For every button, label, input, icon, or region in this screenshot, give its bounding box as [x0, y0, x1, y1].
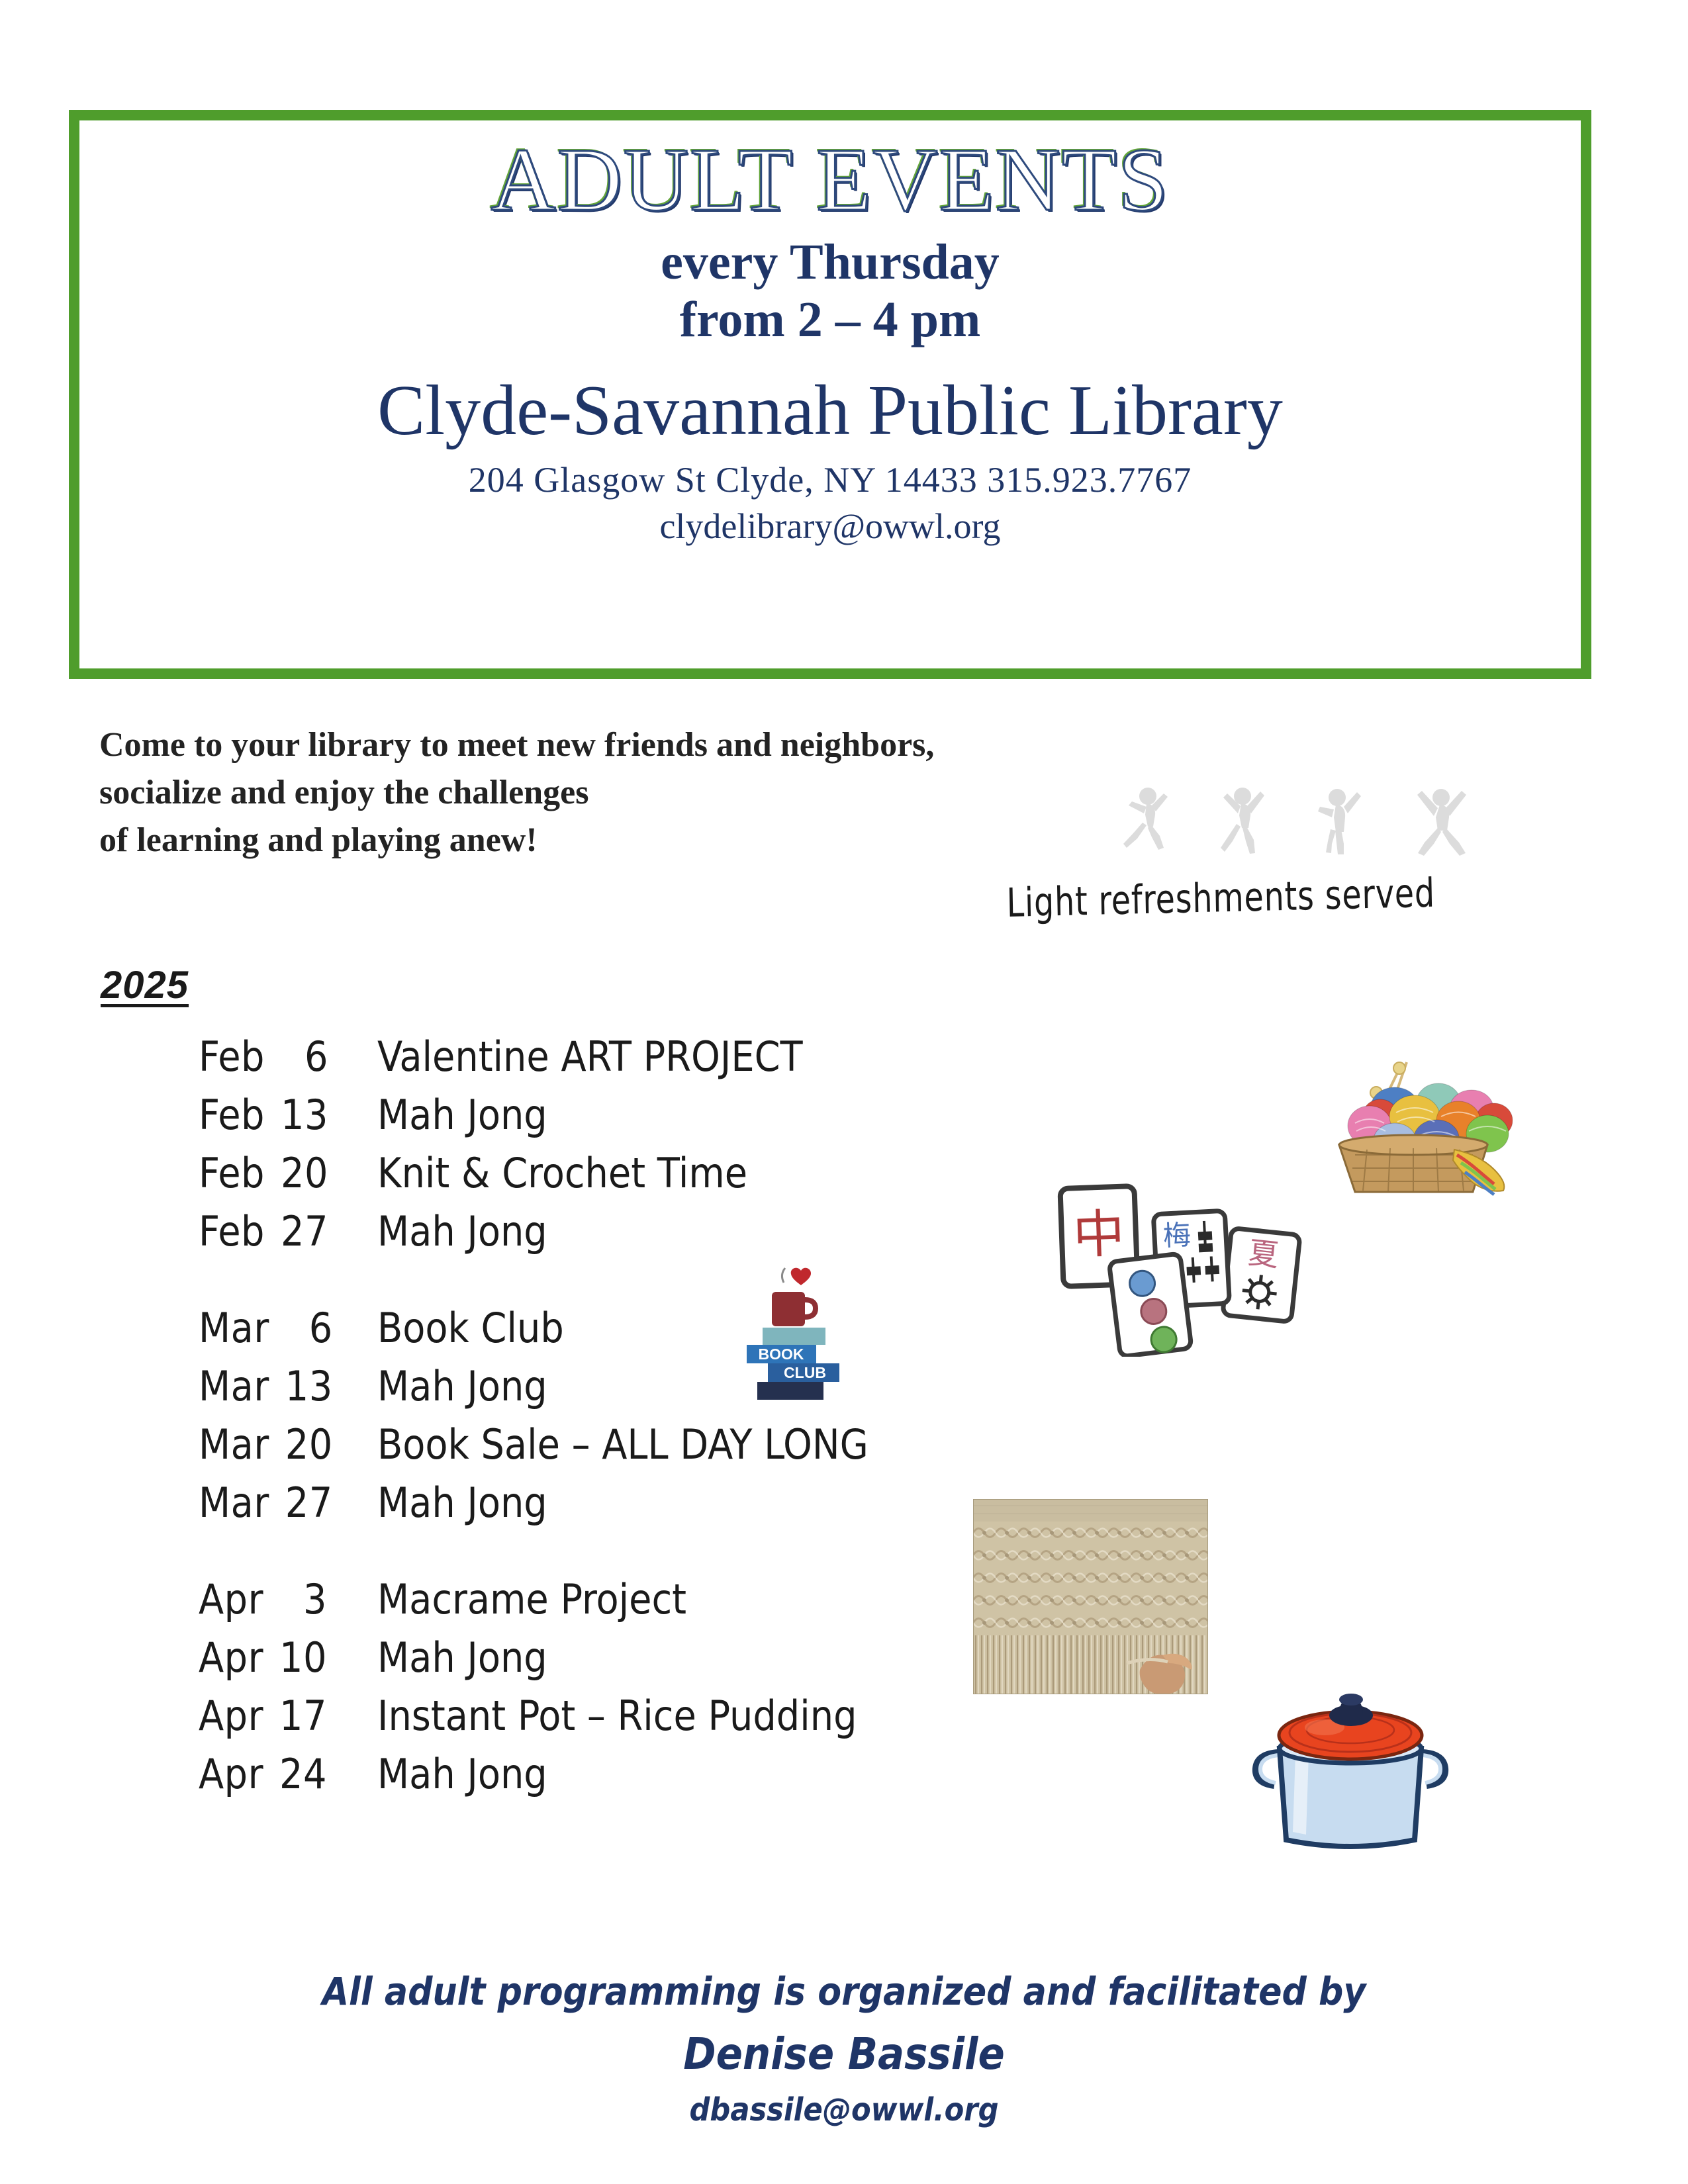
schedule-row: Apr10 Mah Jong [199, 1633, 1059, 1692]
schedule-date: Apr17 [199, 1692, 377, 1740]
book-club-logo: BOOK CLUB [723, 1259, 849, 1401]
events-schedule: Feb6 Valentine ART PROJECT Feb13 Mah Jon… [199, 1032, 1059, 1808]
schedule-event-title: Valentine ART PROJECT [377, 1032, 1059, 1081]
schedule-row: Feb13 Mah Jong [199, 1091, 1059, 1149]
schedule-date: Mar6 [199, 1304, 377, 1352]
schedule-row: Feb6 Valentine ART PROJECT [199, 1032, 1059, 1091]
schedule-date: Feb13 [199, 1091, 377, 1139]
year-heading: 2025 [101, 963, 189, 1007]
schedule-date: Apr24 [199, 1750, 377, 1798]
page-title: ADULT EVENTS [79, 120, 1581, 225]
schedule-event-title: Mah Jong [377, 1479, 1059, 1527]
schedule-event-title: Mah Jong [377, 1750, 1059, 1798]
intro-line-1: Come to your library to meet new friends… [99, 721, 1039, 769]
mahjong-tiles-image: 夏 梅 [1053, 1165, 1324, 1357]
footer-credit-line: All adult programming is organized and f… [0, 1969, 1688, 2014]
schedule-date: Apr3 [199, 1575, 377, 1623]
schedule-date: Feb6 [199, 1032, 377, 1081]
schedule-row: Apr17 Instant Pot – Rice Pudding [199, 1692, 1059, 1750]
svg-text:夏: 夏 [1246, 1234, 1280, 1273]
footer: All adult programming is organized and f… [0, 1969, 1688, 2128]
schedule-event-title: Book Sale – ALL DAY LONG [377, 1420, 1059, 1469]
schedule-group-april: Apr3 Macrame Project Apr10 Mah Jong Apr1… [199, 1575, 1059, 1808]
schedule-row: Mar6 Book Club [199, 1304, 1059, 1362]
intro-line-3: of learning and playing anew! [99, 817, 1039, 864]
intro-line-2: socialize and enjoy the challenges [99, 769, 1039, 817]
schedule-event-title: Macrame Project [377, 1575, 1059, 1623]
schedule-event-title: Knit & Crochet Time [377, 1149, 1059, 1197]
schedule-event-title: Mah Jong [377, 1362, 1059, 1410]
header-time-line: from 2 – 4 pm [79, 292, 1581, 348]
svg-text:梅: 梅 [1162, 1218, 1192, 1252]
schedule-row: Mar27 Mah Jong [199, 1479, 1059, 1537]
schedule-date: Apr10 [199, 1633, 377, 1682]
schedule-date: Mar13 [199, 1362, 377, 1410]
instant-pot-image [1241, 1661, 1460, 1856]
schedule-event-title: Mah Jong [377, 1633, 1059, 1682]
book-club-label-top: BOOK [759, 1345, 804, 1363]
schedule-date: Mar20 [199, 1420, 377, 1469]
refreshments-note: Light refreshments served [1006, 870, 1436, 927]
schedule-event-title: Mah Jong [377, 1091, 1059, 1139]
schedule-event-title: Book Club [377, 1304, 1059, 1352]
schedule-event-title: Mah Jong [377, 1207, 1059, 1255]
header-box: ADULT EVENTS every Thursday from 2 – 4 p… [69, 110, 1591, 679]
header-inner: ADULT EVENTS every Thursday from 2 – 4 p… [79, 120, 1581, 668]
intro-paragraph: Come to your library to meet new friends… [99, 721, 1039, 864]
schedule-row: Apr3 Macrame Project [199, 1575, 1059, 1633]
header-day-line: every Thursday [79, 234, 1581, 291]
schedule-row: Feb20 Knit & Crochet Time [199, 1149, 1059, 1207]
footer-organizer-name: Denise Bassile [0, 2028, 1688, 2079]
footer-organizer-email: dbassile@owwl.org [0, 2091, 1688, 2128]
yarn-basket-image [1314, 1036, 1513, 1198]
schedule-row: Feb27 Mah Jong [199, 1207, 1059, 1265]
schedule-event-title: Instant Pot – Rice Pudding [377, 1692, 1059, 1740]
schedule-date: Mar27 [199, 1479, 377, 1527]
schedule-row: Mar20 Book Sale – ALL DAY LONG [199, 1420, 1059, 1479]
schedule-date: Feb27 [199, 1207, 377, 1255]
macrame-photo [973, 1499, 1208, 1694]
schedule-row: Apr24 Mah Jong [199, 1750, 1059, 1808]
library-email: clydelibrary@owwl.org [79, 506, 1581, 547]
library-address: 204 Glasgow St Clyde, NY 14433 315.923.7… [79, 459, 1581, 500]
jumping-people-icon [1112, 778, 1516, 860]
schedule-group-march: Mar6 Book Club Mar13 Mah Jong Mar20 Book… [199, 1304, 1059, 1537]
flyer-page: ADULT EVENTS every Thursday from 2 – 4 p… [0, 0, 1688, 2184]
library-name: Clyde-Savannah Public Library [79, 373, 1581, 448]
schedule-row: Mar13 Mah Jong [199, 1362, 1059, 1420]
book-club-label-bottom: CLUB [784, 1364, 826, 1381]
schedule-group-february: Feb6 Valentine ART PROJECT Feb13 Mah Jon… [199, 1032, 1059, 1265]
schedule-date: Feb20 [199, 1149, 377, 1197]
svg-text:中: 中 [1072, 1205, 1125, 1266]
